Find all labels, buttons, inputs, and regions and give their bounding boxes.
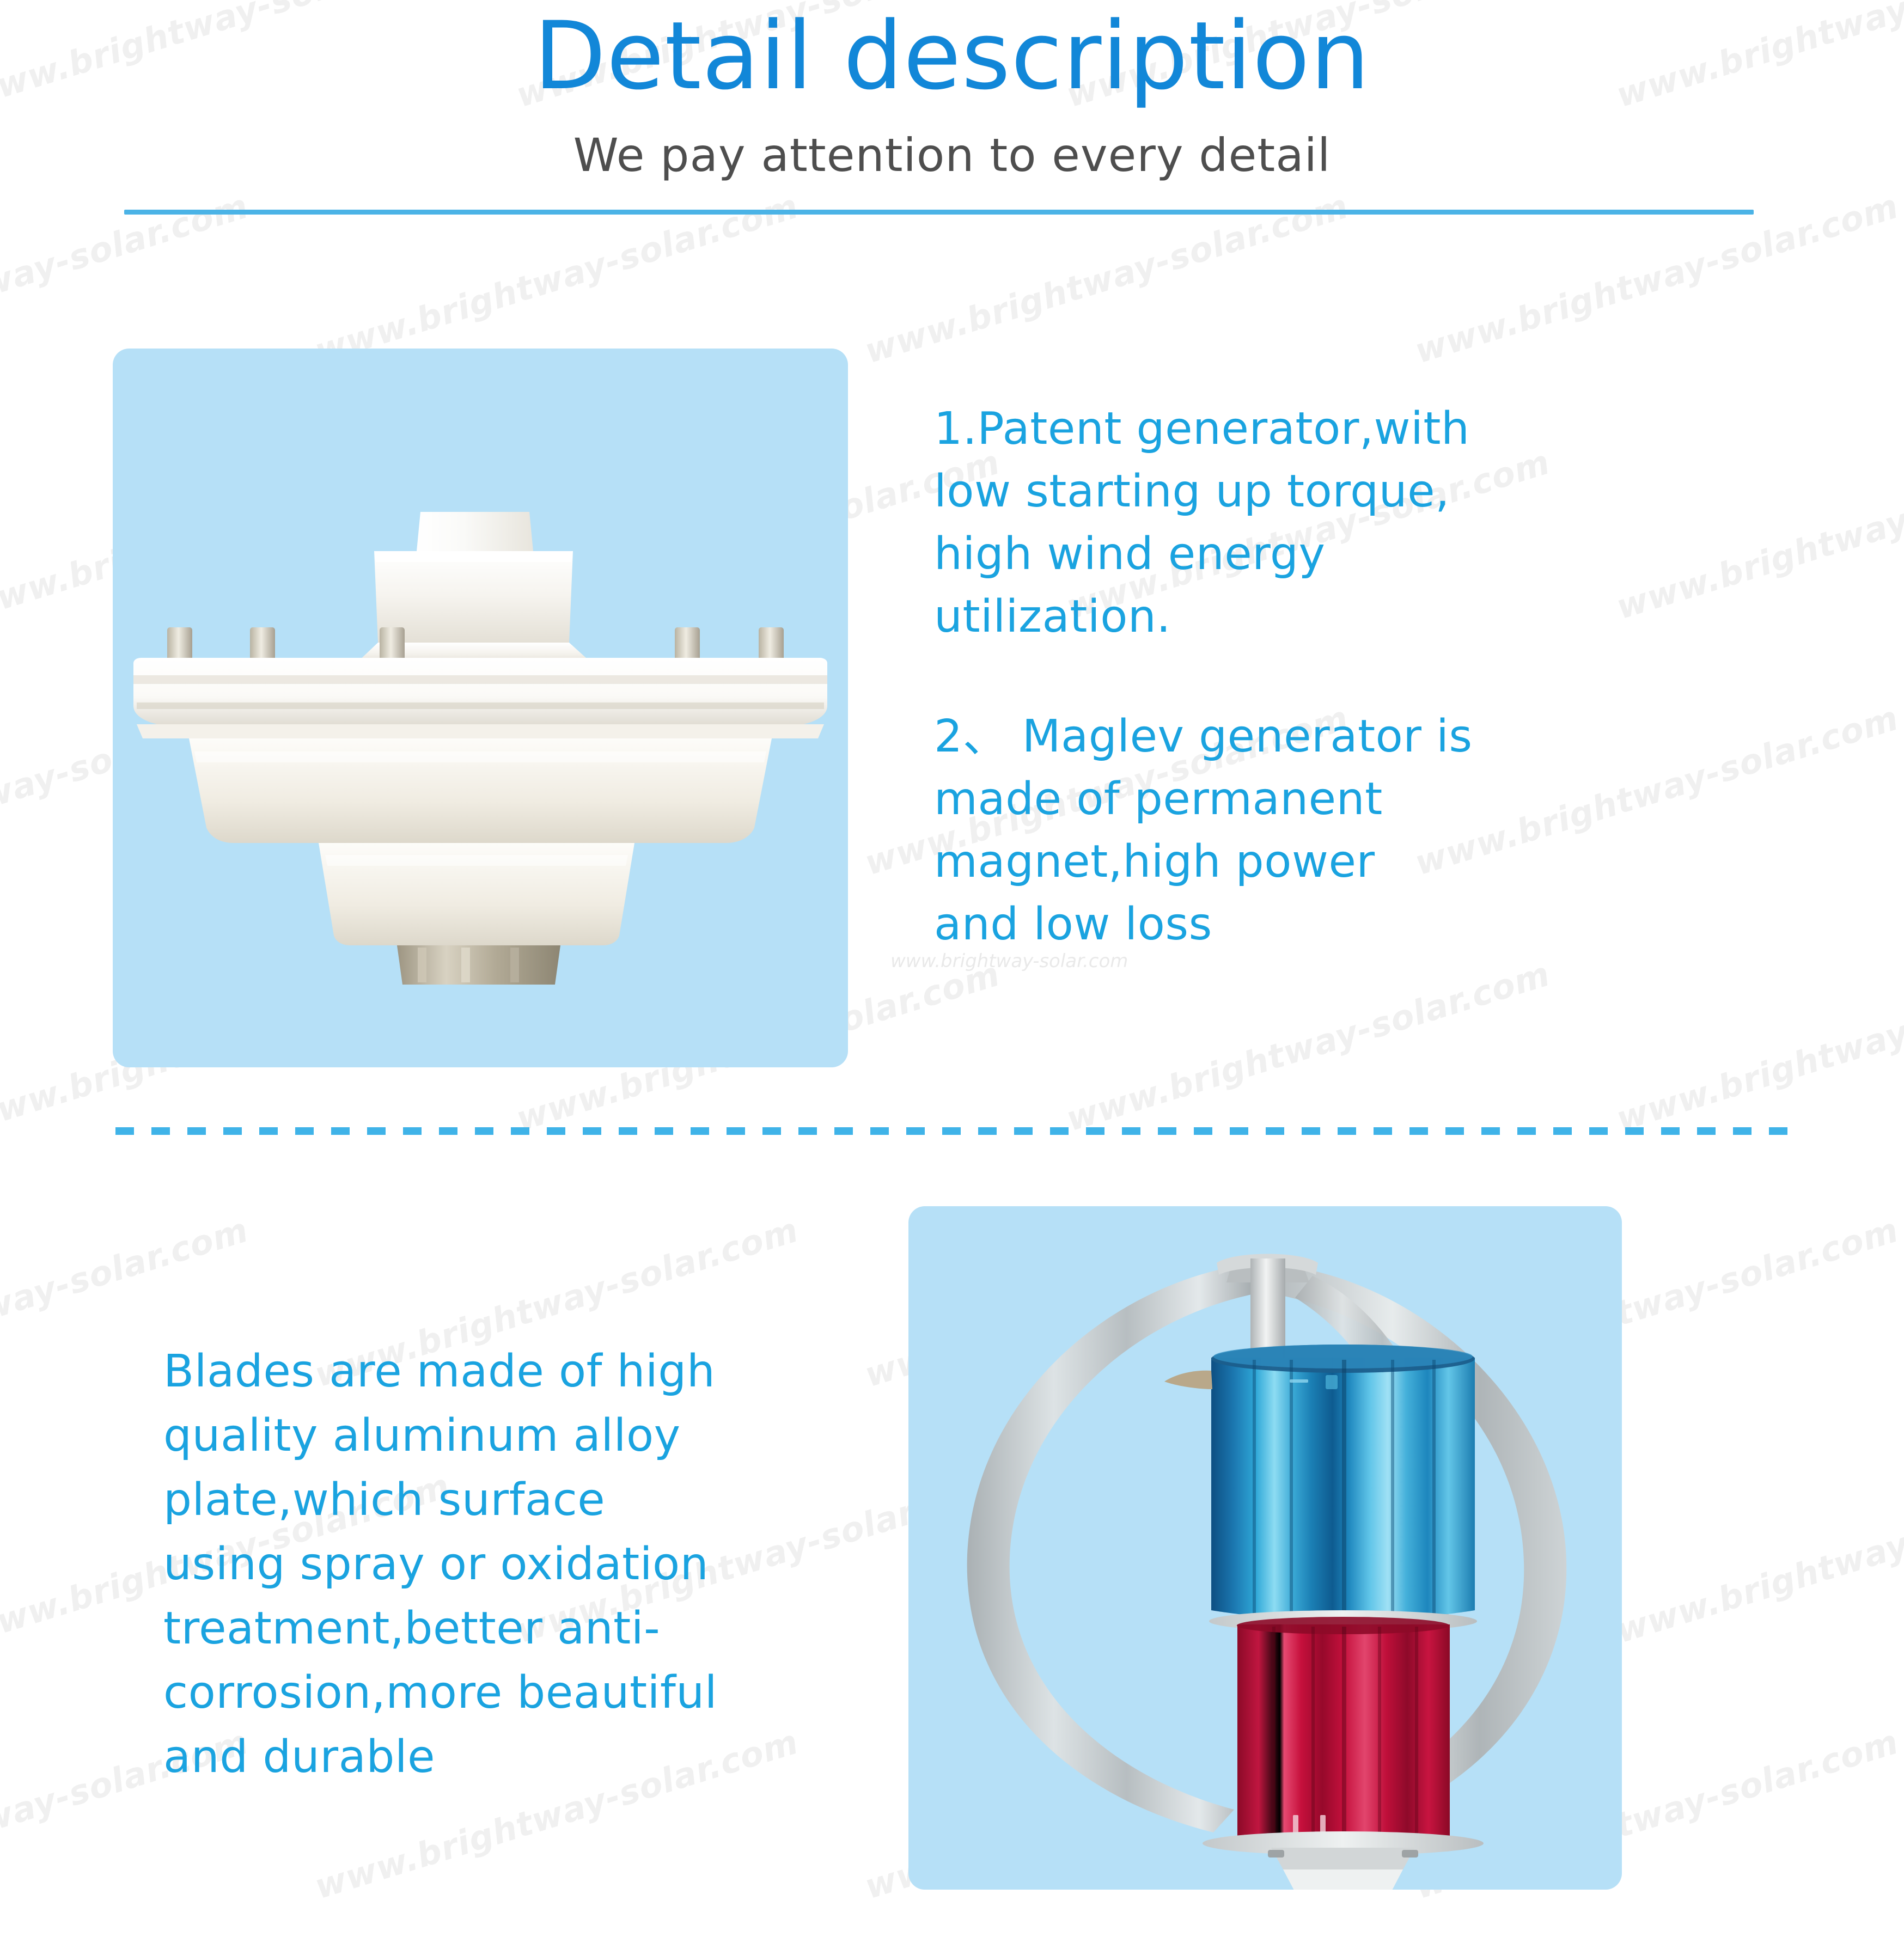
turbine-photo-card: [908, 1206, 1622, 1890]
section-generator: 1.Patent generator,with low starting up …: [0, 343, 1904, 1095]
inline-watermark-text: www.brightway-solar.com: [890, 950, 1128, 972]
detail-description-page: Detail description We pay attention to e…: [0, 0, 1904, 1943]
section-blades: Blades are made of high quality aluminum…: [0, 1187, 1904, 1911]
page-subtitle: We pay attention to every detail: [0, 128, 1904, 182]
generator-photo-artwork: [113, 349, 848, 1067]
page-title: Detail description: [0, 4, 1904, 108]
turbine-photo-artwork: [908, 1206, 1622, 1890]
feature-two-text: 2、 Maglev generator is made of permanent…: [934, 705, 1653, 956]
section-dashed-divider: [115, 1127, 1787, 1135]
generator-illustration: [113, 349, 848, 1067]
blades-description-text: Blades are made of high quality aluminum…: [163, 1340, 882, 1789]
header-divider-rule: [124, 210, 1754, 215]
generator-photo-card: [113, 349, 848, 1067]
feature-one-text: 1.Patent generator,with low starting up …: [934, 398, 1642, 648]
page-header: Detail description We pay attention to e…: [0, 0, 1904, 218]
turbine-illustration: [908, 1206, 1622, 1890]
